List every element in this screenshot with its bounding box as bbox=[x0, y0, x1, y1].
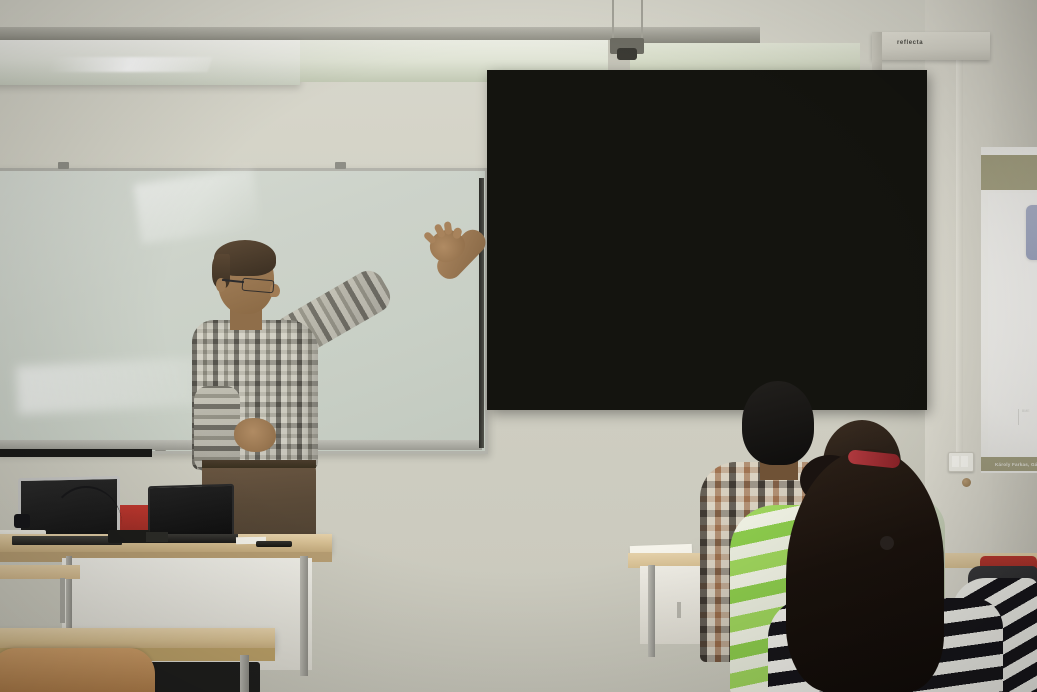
adapter-secondary bbox=[146, 532, 168, 542]
presenter-belt bbox=[202, 460, 316, 468]
light-switch[interactable] bbox=[948, 452, 974, 472]
lamp-hanger-right bbox=[641, 0, 643, 42]
side-desk-leg bbox=[60, 578, 65, 623]
foreground-desk bbox=[0, 628, 275, 650]
laptop-left-base[interactable]: laptop-left bbox=[12, 536, 122, 545]
projection-screen-case bbox=[872, 32, 990, 60]
desk-remote[interactable] bbox=[256, 541, 292, 547]
whiteboard-side-post bbox=[479, 178, 484, 448]
nav-line-3: Performance of Intelligent Car Parking S… bbox=[981, 171, 1037, 178]
presentation-slide: Intelligent Car Parking System Mean fiel… bbox=[981, 147, 1037, 473]
audience-desk-slot bbox=[677, 602, 681, 618]
slide-footer-authors: Károly Farkas, Gábor Horváth , András Mé… bbox=[981, 462, 1037, 467]
projection-screen-frame: Intelligent Car Parking System Mean fiel… bbox=[487, 70, 927, 410]
cable-conduit bbox=[956, 52, 963, 462]
power-plug bbox=[14, 514, 30, 528]
wall-knob bbox=[962, 478, 971, 487]
sponsor-logo-university-icon: BME bbox=[1018, 409, 1037, 425]
slide-footer: Károly Farkas, Gábor Horváth , András Mé… bbox=[981, 457, 1037, 471]
whiteboard-glare-top bbox=[133, 168, 260, 244]
projection-screen-case-end bbox=[872, 32, 882, 72]
attendee-hair-tie-knot bbox=[880, 536, 894, 550]
authors-line-2: András Mészáros Miklós Telek bbox=[988, 298, 1037, 313]
fluorescent-lamp-left bbox=[0, 40, 300, 85]
nav-line-2: Mean field approximation bbox=[981, 163, 1037, 170]
attendee-striped-hair bbox=[786, 449, 944, 692]
presenter-glasses bbox=[241, 278, 274, 294]
projection-screen: Intelligent Car Parking System Mean fiel… bbox=[981, 147, 1037, 473]
whiteboard-mount-left bbox=[58, 162, 69, 169]
presenter-clasped-hands bbox=[234, 418, 276, 452]
presenter-desk-leg-right bbox=[300, 556, 308, 676]
slide-title: Performance Modeling of Intelligent Car … bbox=[1026, 214, 1037, 250]
whiteboard-mount-right bbox=[335, 162, 346, 169]
authors-line-1: Károly Farkas Gábor Horváth bbox=[988, 283, 1037, 298]
slide-title-box: Performance Modeling of Intelligent Car … bbox=[1026, 205, 1037, 260]
slide-sponsor-row: BME ujszechenyiterv.gov.hu The project i… bbox=[988, 385, 1037, 445]
slide-navigation: Intelligent Car Parking System Mean fiel… bbox=[981, 156, 1037, 178]
attendee-plaid-head bbox=[742, 381, 814, 465]
lamp-clip bbox=[617, 48, 637, 60]
presenter-finger-3 bbox=[452, 227, 463, 240]
nav-line-1: Intelligent Car Parking System bbox=[981, 156, 1037, 163]
foreground-desk-leg bbox=[240, 655, 249, 692]
slide-authors: Károly Farkas Gábor Horváth András Mészá… bbox=[988, 283, 1037, 314]
audience-desk-leg bbox=[648, 565, 655, 657]
slide-venue: Debrecen, July 3, 2014 bbox=[988, 363, 1037, 373]
whiteboard-dark-edge bbox=[0, 449, 152, 457]
power-adapter bbox=[108, 530, 150, 543]
lamp-hanger-left bbox=[612, 0, 614, 42]
slide-body: Performance Modeling of Intelligent Car … bbox=[988, 193, 1037, 465]
lecture-photo-scene: reflecta Intelligent Car Parking System … bbox=[0, 0, 1037, 692]
side-desk bbox=[0, 565, 80, 579]
reflecta-brand-label: reflecta bbox=[897, 40, 923, 46]
foreground-chair-wood bbox=[0, 648, 155, 692]
